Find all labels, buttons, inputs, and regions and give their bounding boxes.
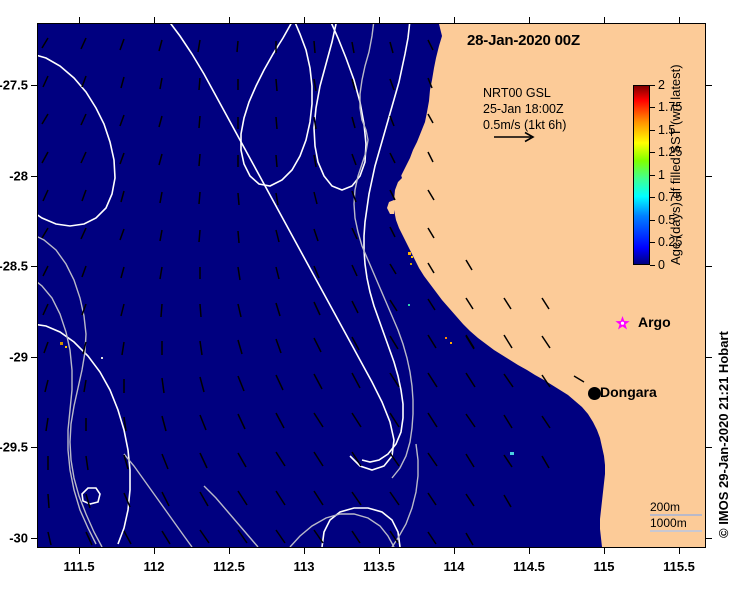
- figure-root: 111.5 112 112.5 113 113.5 114 114.5 115 …: [0, 0, 739, 592]
- dongara-label: Dongara: [600, 384, 657, 400]
- argo-float-marker[interactable]: [615, 316, 630, 331]
- y-tick-label: -28.5: [0, 259, 28, 274]
- y-tick-label: -29: [9, 350, 28, 365]
- y-tick-label: -30: [9, 531, 28, 546]
- y-tick-label: -29.5: [0, 440, 28, 455]
- velocity-legend: NRT00 GSL 25-Jan 18:00Z 0.5m/s (1kt 6h): [483, 85, 566, 133]
- map-canvas: [38, 24, 705, 547]
- colorbar-tick-label: 2: [658, 78, 665, 92]
- depth-legend-label: 1000m: [650, 516, 687, 530]
- velocity-legend-source: NRT00 GSL: [483, 85, 566, 101]
- x-tick-label: 113: [294, 559, 315, 574]
- colorbar-tick-label: 1: [658, 168, 665, 182]
- depth-legend-item: 200m: [650, 500, 702, 516]
- y-tick-label: -28: [9, 169, 28, 184]
- x-tick-label: 113.5: [363, 559, 395, 574]
- depth-legend-line-1000m: [650, 530, 702, 532]
- colorbar-tick-label: 0: [658, 258, 665, 272]
- velocity-legend-time: 25-Jan 18:00Z: [483, 101, 566, 117]
- x-tick-label: 115.5: [663, 559, 695, 574]
- x-tick-label: 114.5: [513, 559, 545, 574]
- colorbar-title: Age (days) of filled SST (wrt latest): [668, 85, 683, 265]
- x-tick-label: 111.5: [63, 559, 94, 574]
- depth-contour-legend: 200m 1000m: [650, 500, 702, 532]
- right-arrow-icon: [493, 131, 537, 143]
- argo-label: Argo: [638, 314, 671, 330]
- map-plot-area[interactable]: [37, 23, 706, 548]
- x-tick-label: 112: [144, 559, 165, 574]
- y-tick-label: -27.5: [0, 78, 28, 93]
- x-tick-label: 115: [594, 559, 615, 574]
- copyright-text: © IMOS 29-Jan-2020 21:21 Hobart: [716, 331, 731, 538]
- depth-legend-label: 200m: [650, 500, 680, 514]
- map-title: 28-Jan-2020 00Z: [467, 32, 580, 49]
- x-tick-label: 112.5: [213, 559, 245, 574]
- colorbar-gradient: [633, 85, 650, 265]
- depth-legend-item: 1000m: [650, 516, 702, 532]
- colorbar[interactable]: 0 0.25 0.5 0.75 1 1.25 1.5 1.75 2: [633, 85, 650, 265]
- x-tick-label: 114: [444, 559, 465, 574]
